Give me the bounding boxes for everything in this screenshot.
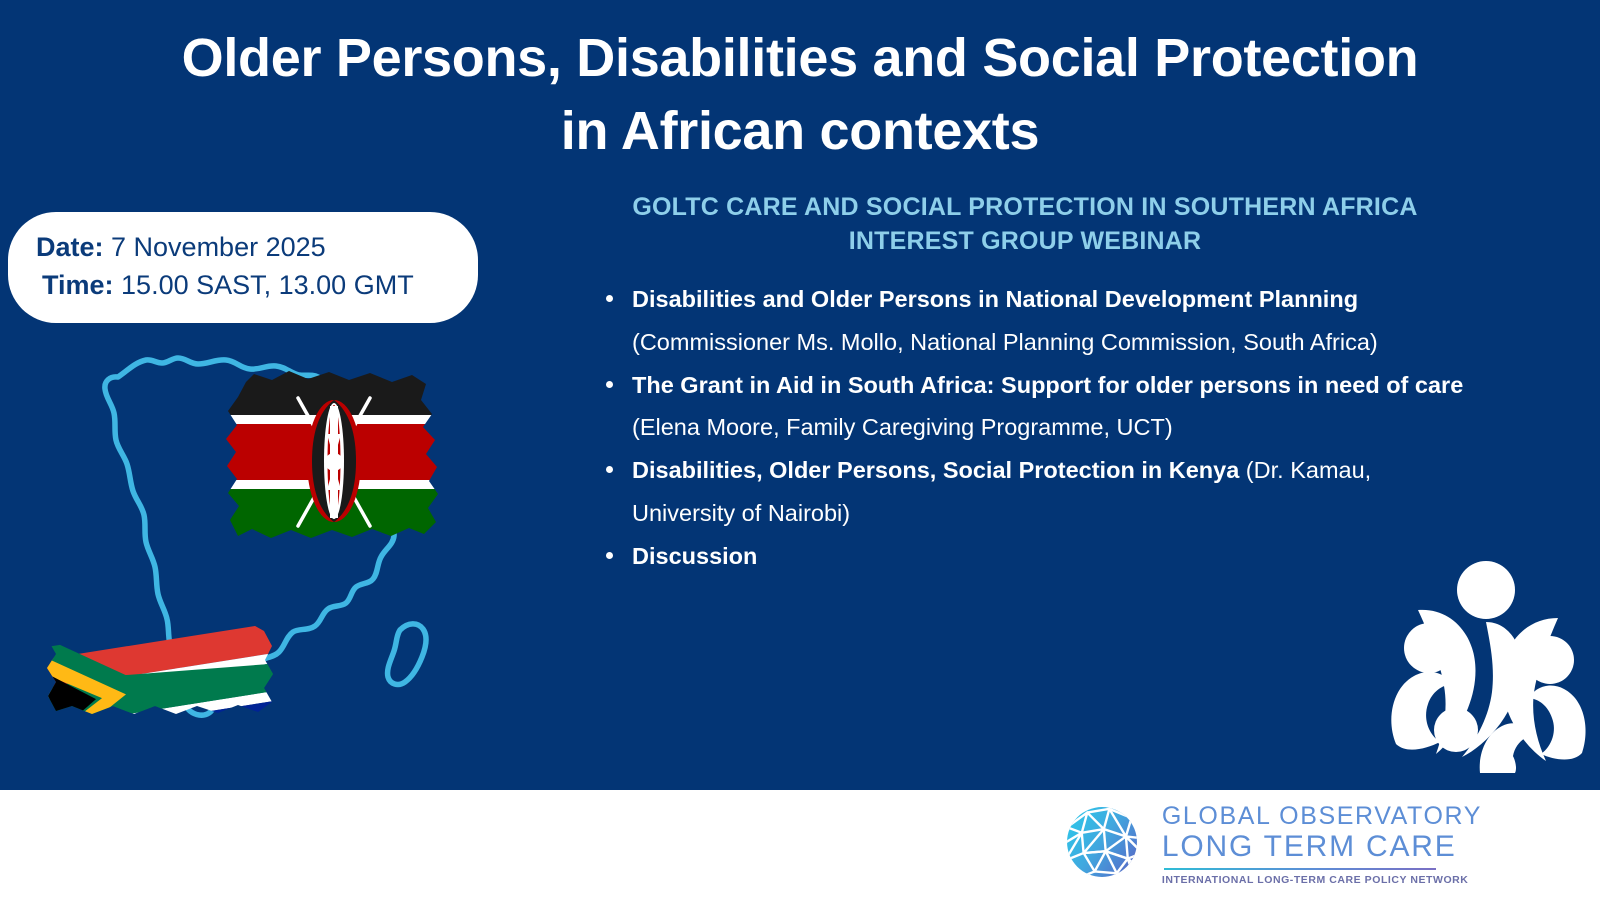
agenda-item-title: The Grant in Aid in South Africa: Suppor…: [632, 372, 1463, 398]
agenda-item-detail: (Elena Moore, Family Caregiving Programm…: [632, 414, 1173, 440]
brand-divider: [1164, 868, 1436, 870]
agenda-item: Disabilities and Older Persons in Nation…: [632, 278, 1490, 364]
title-line-2: in African contexts: [90, 95, 1510, 168]
africa-map-graphic: [40, 330, 470, 765]
goltc-logo: GLOBAL OBSERVATORY LONG TERM CARE INTERN…: [1056, 796, 1482, 888]
kenya-flag: [225, 370, 440, 541]
agenda-item: Discussion: [632, 535, 1490, 578]
date-row: Date: 7 November 2025: [36, 228, 452, 266]
brand-text-block: GLOBAL OBSERVATORY LONG TERM CARE INTERN…: [1162, 798, 1482, 887]
agenda-list: Disabilities and Older Persons in Nation…: [560, 278, 1490, 577]
agenda-item-title: Discussion: [632, 543, 757, 569]
time-row: Time: 15.00 SAST, 13.00 GMT: [36, 266, 452, 304]
date-label: Date:: [36, 232, 104, 262]
agenda-item: The Grant in Aid in South Africa: Suppor…: [632, 364, 1490, 450]
agenda-item: Disabilities, Older Persons, Social Prot…: [632, 449, 1490, 535]
time-value: 15.00 SAST, 13.00 GMT: [114, 270, 414, 300]
time-label: Time:: [42, 270, 114, 300]
brand-line-2: LONG TERM CARE: [1162, 830, 1482, 864]
date-value: 7 November 2025: [104, 232, 326, 262]
title-line-1: Older Persons, Disabilities and Social P…: [90, 22, 1510, 95]
brand-line-1: GLOBAL OBSERVATORY: [1162, 802, 1482, 830]
brand-tagline: INTERNATIONAL LONG-TERM CARE POLICY NETW…: [1162, 874, 1482, 886]
datetime-badge: Date: 7 November 2025 Time: 15.00 SAST, …: [8, 212, 478, 323]
event-subtitle-line-2: INTEREST GROUP WEBINAR: [560, 224, 1490, 258]
agenda-item-title: Disabilities and Older Persons in Nation…: [632, 286, 1358, 312]
people-group-emblem-icon: [1382, 548, 1592, 773]
event-subtitle: GOLTC CARE AND SOCIAL PROTECTION IN SOUT…: [560, 190, 1490, 258]
event-subtitle-line-1: GOLTC CARE AND SOCIAL PROTECTION IN SOUT…: [560, 190, 1490, 224]
event-details: GOLTC CARE AND SOCIAL PROTECTION IN SOUT…: [560, 190, 1490, 577]
poster-footer: GLOBAL OBSERVATORY LONG TERM CARE INTERN…: [0, 790, 1600, 900]
agenda-item-detail: (Commissioner Ms. Mollo, National Planni…: [632, 329, 1378, 355]
agenda-item-title: Disabilities, Older Persons, Social Prot…: [632, 457, 1239, 483]
south-africa-flag: [40, 608, 290, 765]
page-title: Older Persons, Disabilities and Social P…: [90, 22, 1510, 168]
webinar-poster: Older Persons, Disabilities and Social P…: [0, 0, 1600, 900]
globe-icon: [1056, 796, 1148, 888]
